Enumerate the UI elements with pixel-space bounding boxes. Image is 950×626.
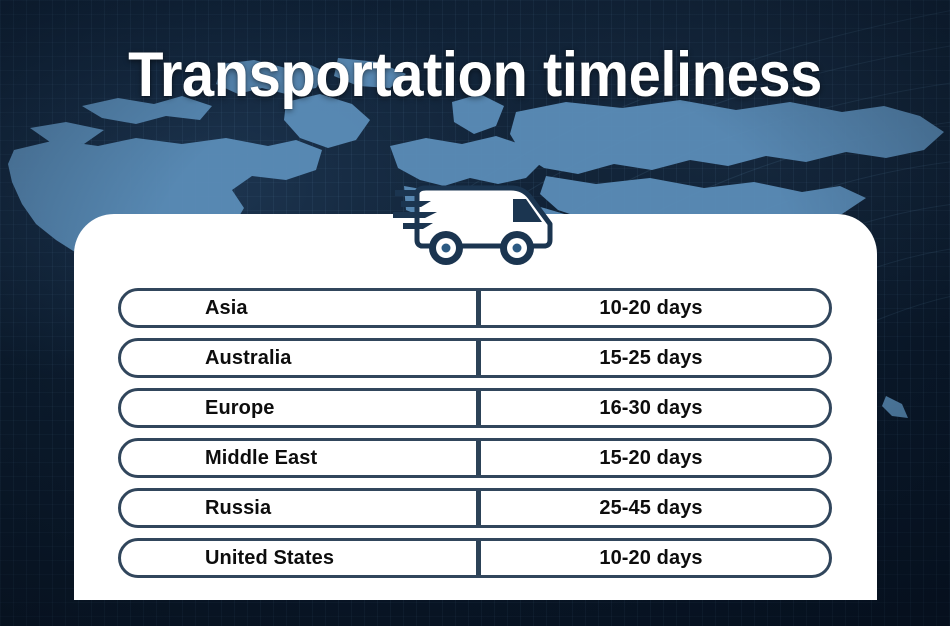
table-row: Russia 25-45 days: [118, 488, 832, 528]
transportation-timeliness-banner: Transportation timeliness: [0, 0, 950, 626]
timeliness-table: Asia 10-20 days Australia 15-25 days Eur…: [118, 288, 832, 578]
region-cell: Middle East: [121, 441, 476, 475]
table-row: Asia 10-20 days: [118, 288, 832, 328]
table-row: Middle East 15-20 days: [118, 438, 832, 478]
days-cell: 10-20 days: [481, 291, 829, 325]
region-cell: Russia: [121, 491, 476, 525]
days-cell: 10-20 days: [481, 541, 829, 575]
region-cell: Asia: [121, 291, 476, 325]
region-cell: Australia: [121, 341, 476, 375]
delivery-truck-icon: [393, 168, 571, 272]
days-cell: 15-25 days: [481, 341, 829, 375]
table-row: Europe 16-30 days: [118, 388, 832, 428]
page-title: Transportation timeliness: [38, 44, 912, 107]
days-cell: 25-45 days: [481, 491, 829, 525]
table-row: Australia 15-25 days: [118, 338, 832, 378]
region-cell: United States: [121, 541, 476, 575]
days-cell: 16-30 days: [481, 391, 829, 425]
table-row: United States 10-20 days: [118, 538, 832, 578]
region-cell: Europe: [121, 391, 476, 425]
days-cell: 15-20 days: [481, 441, 829, 475]
